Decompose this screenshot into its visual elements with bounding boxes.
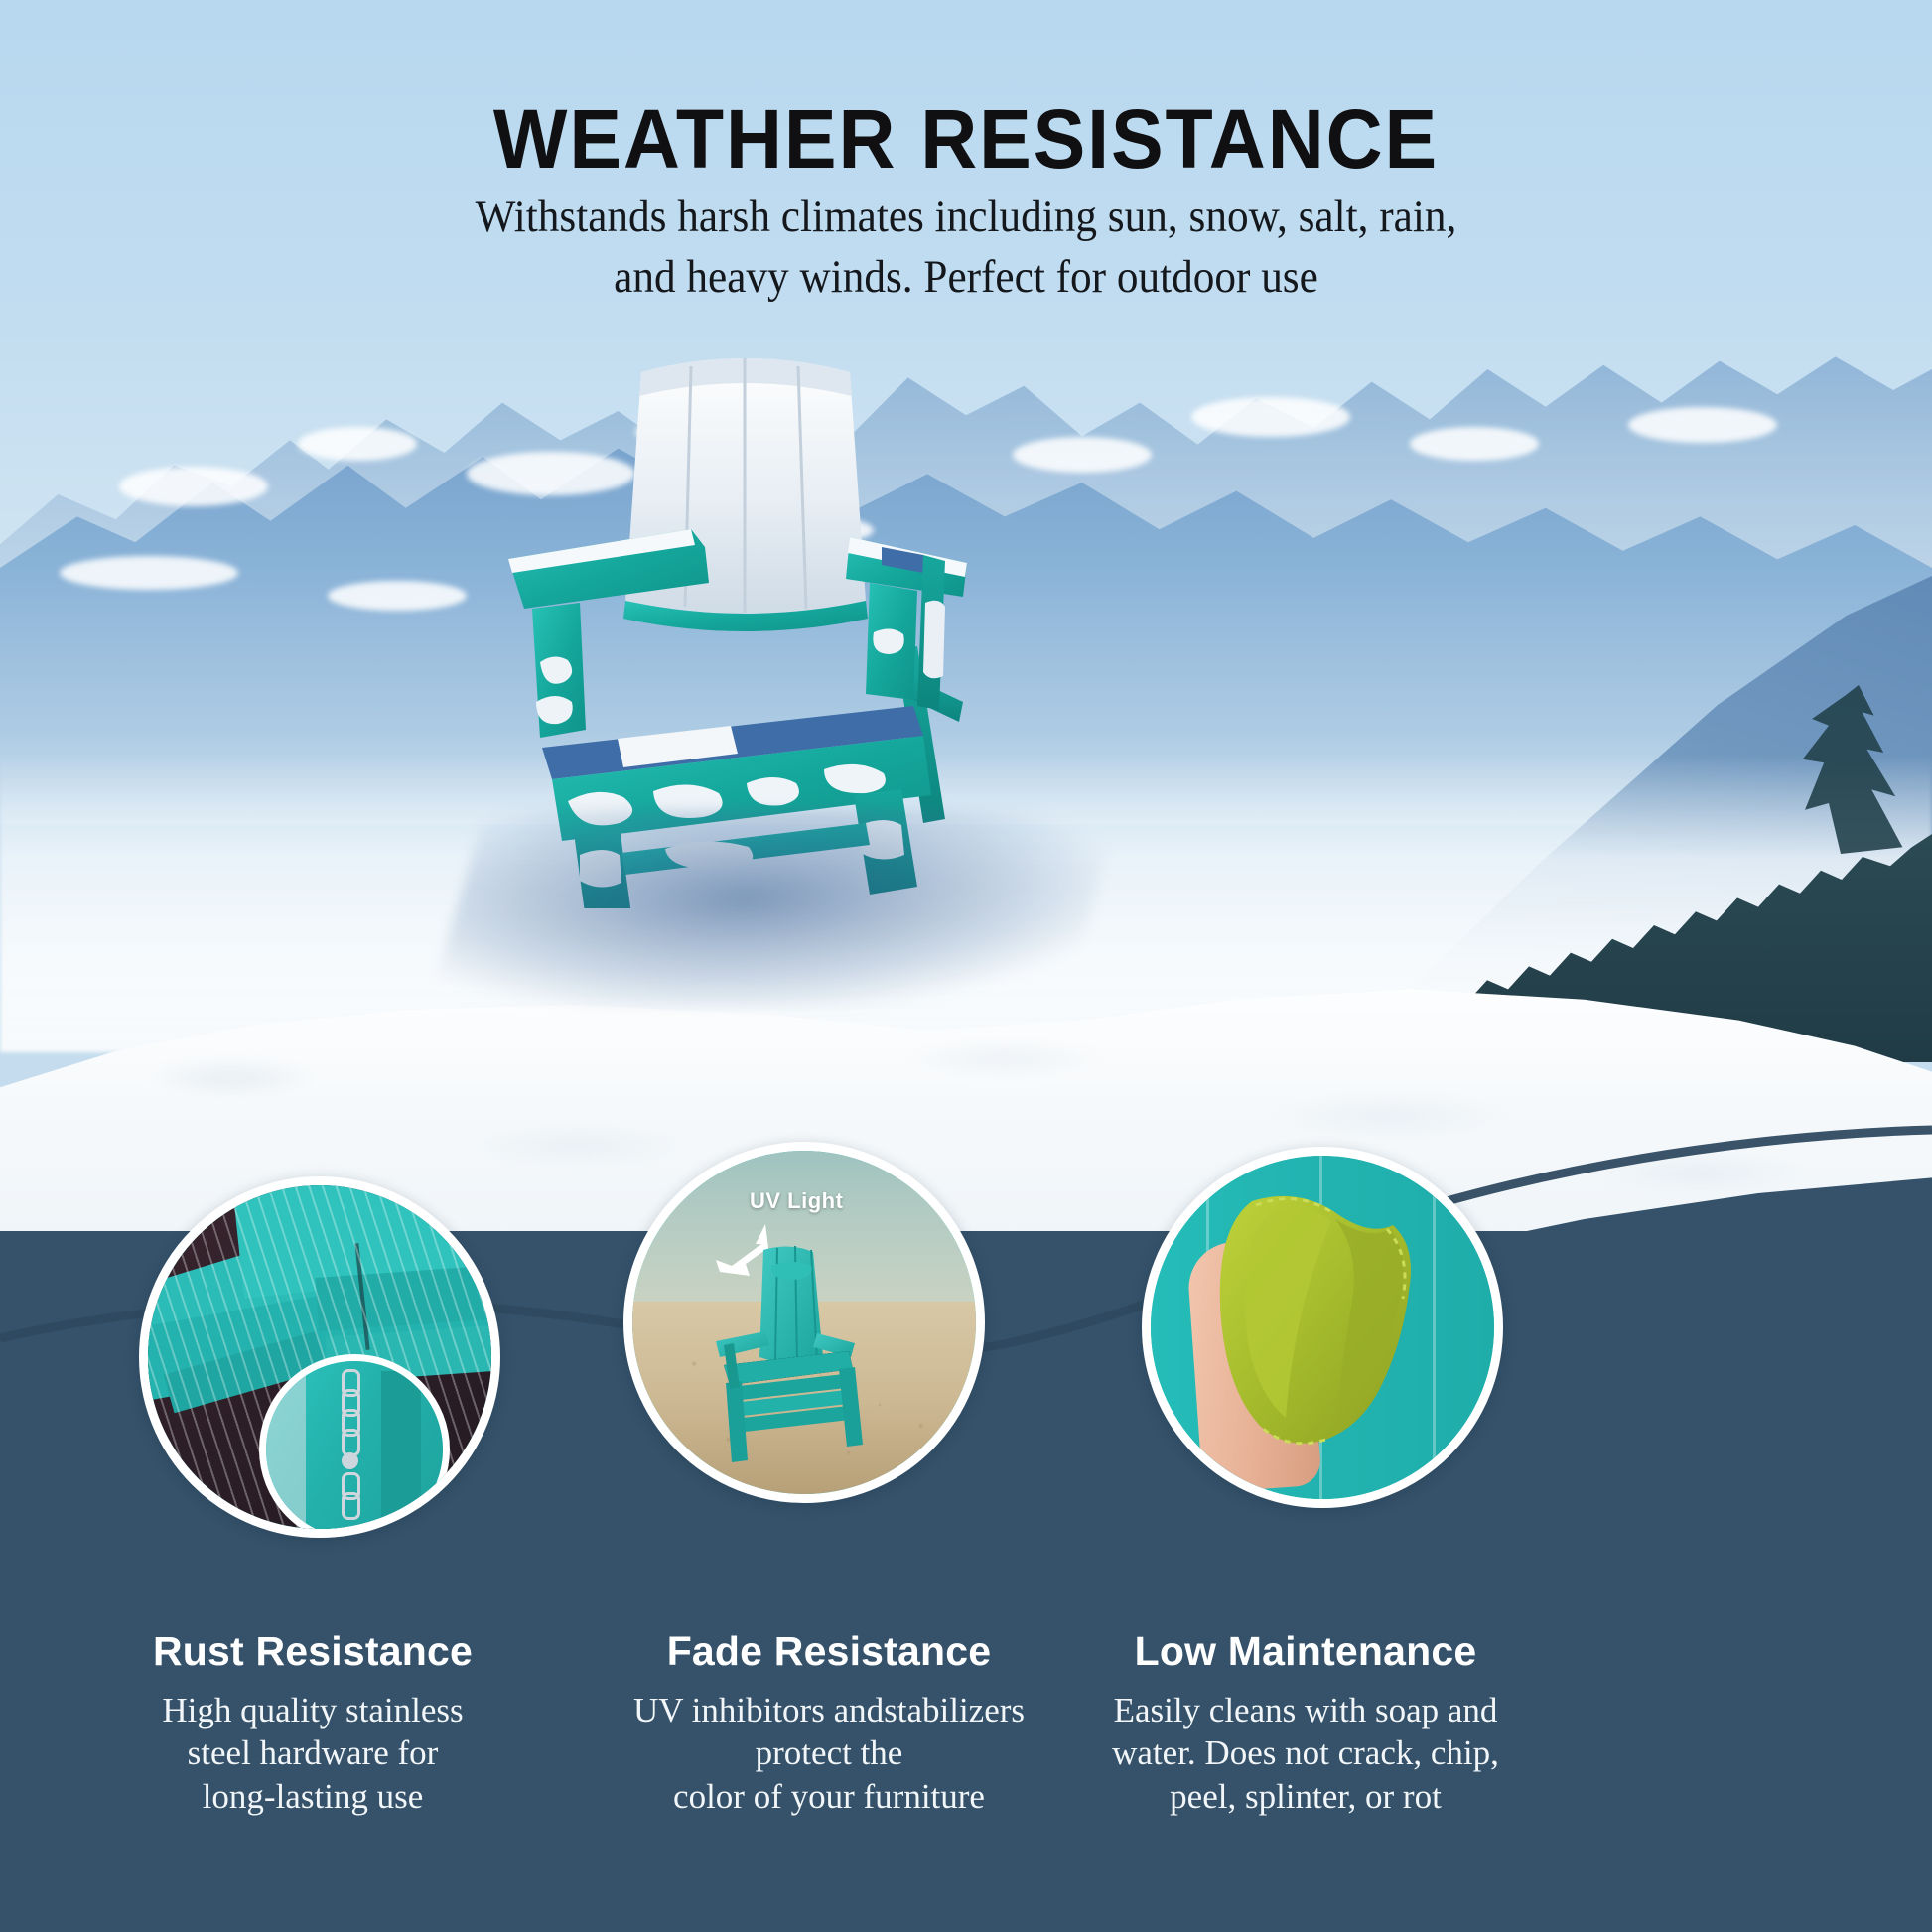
uv-light-label: UV Light [750,1188,843,1214]
feature-body-line-3: peel, splinter, or rot [1170,1777,1442,1816]
hero-chair-image [496,352,1052,908]
feature-body: UV inhibitors andstabilizers protect the… [616,1689,1042,1818]
page-subtitle-line-1: Withstands harsh climates including sun,… [77,187,1855,247]
feature-body-line-2: water. Does not crack, chip, [1112,1733,1499,1772]
page-title: WEATHER RESISTANCE [58,91,1873,188]
feature-title: Low Maintenance [1077,1628,1534,1675]
feature-title: Fade Resistance [616,1628,1042,1675]
hardware-detail-inset[interactable] [259,1354,450,1538]
feature-image-rust-resistance[interactable] [139,1176,500,1538]
feature-card-low-maintenance: Low Maintenance Easily cleans with soap … [1077,1628,1534,1818]
infographic-canvas: WEATHER RESISTANCE Withstands harsh clim… [0,0,1932,1932]
feature-body-line-1: Easily cleans with soap and [1114,1691,1498,1729]
beach-chair-svg [704,1246,893,1474]
feature-title: Rust Resistance [109,1628,516,1675]
page-subtitle-line-2: and heavy winds. Perfect for outdoor use [77,247,1855,308]
feature-body-line-1: UV inhibitors andstabilizers [633,1691,1025,1729]
stainless-chain-icon [266,1361,443,1538]
chair-shadow [428,809,1120,1008]
microfiber-cloth-icon [1157,1195,1454,1463]
feature-body-line-2: protect the [756,1733,903,1772]
page-subtitle: Withstands harsh climates including sun,… [0,187,1932,308]
feature-body: High quality stainless steel hardware fo… [109,1689,516,1818]
feature-card-rust-resistance: Rust Resistance High quality stainless s… [109,1628,516,1818]
feature-image-fade-resistance[interactable]: UV Light [623,1142,985,1503]
feature-body: Easily cleans with soap and water. Does … [1077,1689,1534,1818]
feature-body-line-3: color of your furniture [673,1777,985,1816]
feature-body-line-1: High quality stainless [162,1691,463,1729]
feature-body-line-3: long-lasting use [203,1777,424,1816]
feature-image-low-maintenance[interactable] [1142,1147,1503,1508]
feature-body-line-2: steel hardware for [188,1733,439,1772]
feature-card-fade-resistance: Fade Resistance UV inhibitors andstabili… [616,1628,1042,1818]
